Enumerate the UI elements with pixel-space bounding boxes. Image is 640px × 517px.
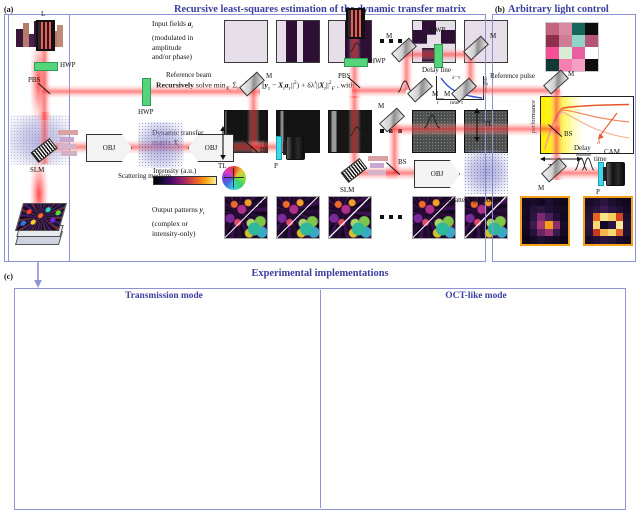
reference-pulse-label: Reference pulse	[490, 72, 535, 80]
hwp-reference-arm	[142, 78, 151, 106]
tube-lens-label: TL	[218, 162, 227, 170]
oct-pbs-label: PBS	[338, 72, 350, 80]
oct-mirror-delay-2-label: M	[490, 32, 496, 40]
pulse-glyph-4	[424, 114, 440, 130]
polarizer-label: P	[274, 162, 278, 170]
oct-mirror-delay-3-label: M	[432, 90, 438, 98]
oct-mirror-sample-label: M	[378, 102, 384, 110]
reference-beam-label: Reference beam	[166, 71, 211, 79]
pulse-glyph-1	[350, 42, 364, 54]
laser-source	[36, 20, 55, 51]
camera-label: CAM	[284, 122, 300, 130]
oct-bs-detection-label: BS	[564, 130, 573, 138]
beam-splitter-label: BS	[260, 146, 269, 154]
oct-hwp-delay-line	[434, 44, 443, 68]
oct-laser-source	[346, 8, 365, 39]
panel-a-tag: (a)	[4, 5, 13, 14]
oct-camera-label: CAM	[604, 148, 620, 156]
delay-line-label: Delay line	[422, 66, 451, 74]
oct-mirror-ref-turn-label: M	[568, 70, 574, 78]
oct-tube-lens-label: TL	[484, 120, 493, 128]
beam-mirror-to-bs	[247, 88, 260, 146]
oct-hwp-label: HWP	[370, 57, 386, 65]
oct-camera	[606, 162, 625, 186]
hwp-reference-arm-label: HWP	[138, 108, 154, 116]
hwp-after-laser-label: HWP	[60, 61, 76, 69]
oct-bs-sample-label: BS	[398, 158, 407, 166]
oct-polarizer-label: P	[596, 188, 600, 196]
panel-c-title: Experimental implementations	[0, 268, 640, 279]
slm-modulated-bars	[58, 130, 80, 158]
oct-objective-lens: OBJ	[414, 160, 460, 188]
oct-slm-label: SLM	[340, 186, 354, 194]
oct-scattering-medium	[464, 150, 508, 194]
laser-label: L	[41, 10, 45, 18]
oct-mode-title: OCT-like mode	[326, 291, 626, 301]
beam-reference-horizontal	[42, 85, 260, 98]
oct-slm-modulated-bars	[368, 156, 390, 180]
output-patterns-label-l2: intensity-only)	[152, 229, 218, 239]
oct-mirror-delay-1-label: M	[386, 32, 392, 40]
delay-pulse-pair-glyph	[574, 154, 596, 172]
scattering-medium-label: Scattering medium	[118, 172, 171, 180]
polarizer	[276, 136, 282, 160]
objective-lens-1: OBJ	[86, 134, 132, 162]
scattering-medium-sample	[138, 122, 184, 168]
transmission-setup: L HWP PBS SLM OBJ Scattering medium OBJ …	[14, 0, 320, 222]
oct-setup: L HWP PBS SLM M M M M HWP Delay line Ref…	[326, 0, 626, 222]
oct-hwp-after-laser	[344, 58, 368, 67]
oct-tube-lens-arrows	[472, 108, 482, 142]
oct-mirror-delay-4-label: M	[444, 90, 450, 98]
oct-scattering-label: Scattering medium	[448, 196, 501, 204]
delay-label: Delay	[574, 144, 591, 152]
pulse-glyph-2	[350, 126, 364, 138]
mirror-reference-label: M	[266, 72, 272, 80]
oct-mirror-detection-label: M	[538, 184, 544, 192]
mode-divider	[320, 290, 321, 508]
camera	[286, 136, 305, 160]
hwp-after-laser	[34, 62, 58, 71]
transmission-mode-title: Transmission mode	[14, 291, 314, 301]
slm-label: SLM	[30, 166, 44, 174]
oct-hwp-delay-label: HWP	[430, 26, 446, 34]
tube-lens-arrows	[218, 126, 228, 160]
pbs-label: PBS	[28, 76, 40, 84]
